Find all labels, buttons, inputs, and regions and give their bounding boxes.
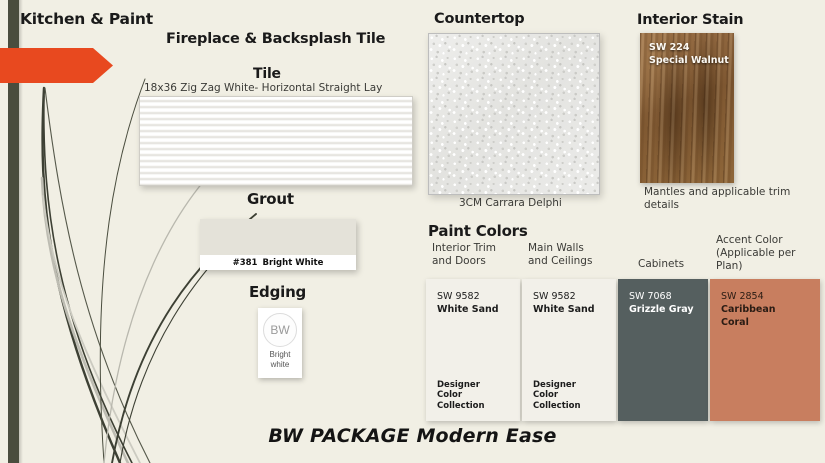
paint-swatch-name: White Sand [437,303,499,316]
paint-column-use-label-line: and Doors [432,255,496,268]
paint-column-use-label-line: Interior Trim [432,242,496,255]
section-title-edging: Edging [249,283,306,301]
section-title-paint-colors: Paint Colors [428,222,528,240]
paint-swatch-heading: SW 9582White Sand [437,290,499,316]
edging-label: Bright white [270,350,291,370]
paint-column-use-label-line: and Ceilings [528,255,592,268]
paint-swatch-collection: DesignerColorCollection [437,380,485,412]
paint-column-use-label: Cabinets [638,258,684,271]
page-title: Kitchen & Paint [20,10,153,28]
countertop-swatch [428,33,600,195]
paint-swatch: SW 9582White SandDesignerColorCollection [522,279,616,421]
paint-column-use-label: Main Wallsand Ceilings [528,242,592,268]
paint-swatch-code: SW 9582 [437,290,499,303]
paint-swatch-name: White Sand [533,303,595,316]
tile-caption: 18x36 Zig Zag White- Horizontal Straight… [144,82,382,94]
orange-arrow-icon [0,48,113,83]
interior-stain-swatch: SW 224 Special Walnut [640,33,734,183]
paint-swatch: SW 9582White SandDesignerColorCollection [426,279,520,421]
section-title-fireplace: Fireplace & Backsplash Tile [166,31,385,47]
edging-swatch: BW Bright white [258,308,302,378]
paint-column-use-label-line: Cabinets [638,258,684,271]
section-title-countertop: Countertop [434,11,524,27]
edging-label-line1: Bright [270,350,291,360]
paint-swatch-code: SW 7068 [629,290,694,303]
paint-swatch-name: Grizzle Gray [629,303,694,316]
paint-column-use-label-line: Accent Color [716,234,795,247]
grout-code: #381 [233,258,258,268]
interior-stain-caption: Mantles and applicable trim details [644,186,794,212]
paint-column-use-label-line: Main Walls [528,242,592,255]
paint-swatch-heading: SW 7068Grizzle Gray [629,290,694,316]
interior-stain-label: SW 224 Special Walnut [649,41,729,67]
footer-title: BW PACKAGE Modern Ease [0,425,825,447]
interior-stain-code: SW 224 [649,41,729,54]
tile-swatch [139,96,413,186]
paint-column-use-label: Accent Color(Applicable perPlan) [716,234,795,273]
paint-swatch: SW 2854CaribbeanCoral [710,279,820,421]
paint-swatch-collection: DesignerColorCollection [533,380,581,412]
paint-swatch-heading: SW 2854CaribbeanCoral [721,290,776,329]
grout-name: Bright White [262,258,323,268]
paint-swatch-row: SW 9582White SandDesignerColorCollection… [426,279,820,421]
paint-column-use-label-line: Plan) [716,260,795,273]
edging-label-line2: white [270,360,291,370]
paint-swatch-code: SW 9582 [533,290,595,303]
interior-stain-name: Special Walnut [649,54,729,67]
paint-column-use-label-line: (Applicable per [716,247,795,260]
paint-swatch-name: CaribbeanCoral [721,303,776,329]
paint-swatch-heading: SW 9582White Sand [533,290,595,316]
grout-label-band: #381 Bright White [200,255,356,270]
section-title-interior-stain: Interior Stain [637,12,743,28]
paint-column-use-label: Interior Trimand Doors [432,242,496,268]
section-title-grout: Grout [247,190,294,208]
paint-swatch-code: SW 2854 [721,290,776,303]
section-title-tile: Tile [253,66,281,82]
countertop-caption: 3CM Carrara Delphi [459,197,562,209]
edging-monogram: BW [263,313,297,347]
selections-board: Kitchen & Paint Fireplace & Backsplash T… [0,0,825,463]
paint-swatch: SW 7068Grizzle Gray [618,279,708,421]
grout-swatch: #381 Bright White [200,219,356,270]
